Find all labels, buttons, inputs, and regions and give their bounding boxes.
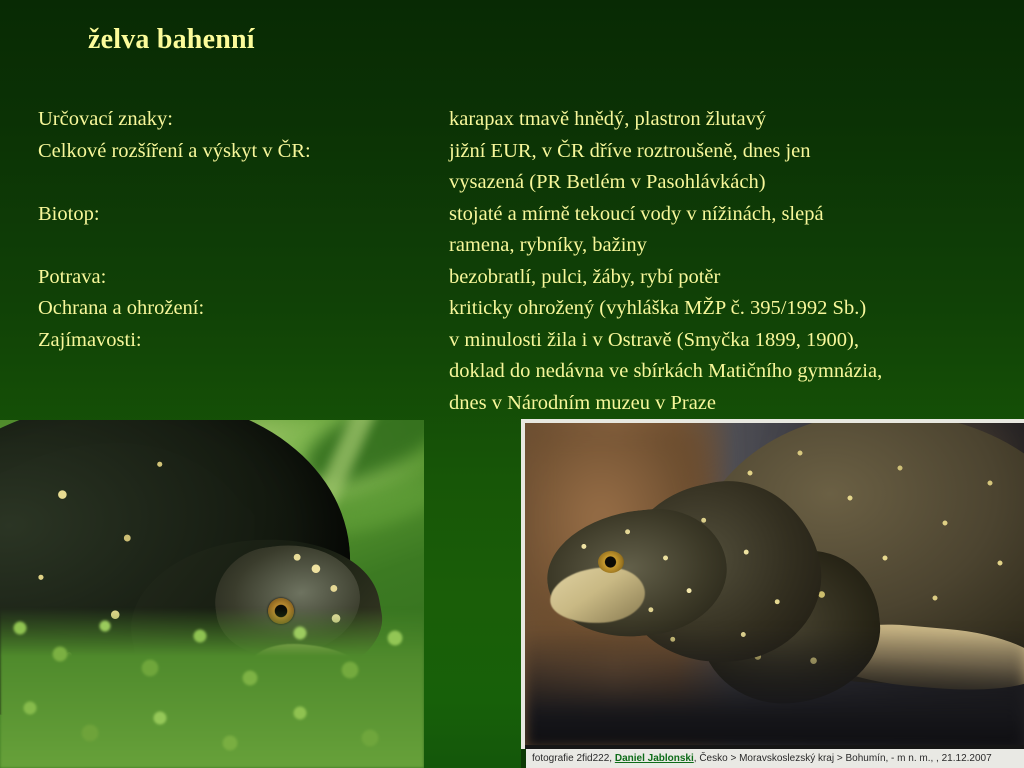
- info-label: Určovací znaky:: [38, 104, 438, 136]
- duckweed-mat: [0, 608, 424, 768]
- photo-credit-bar: fotografie 2fid222, Daniel Jablonski , Č…: [521, 749, 1024, 768]
- info-label: Ochrana a ohrožení:: [38, 293, 438, 325]
- credit-author-link[interactable]: Daniel Jablonski: [615, 753, 694, 764]
- info-value: v minulosti žila i v Ostravě (Smyčka 189…: [449, 325, 1019, 357]
- turtle-eye: [598, 551, 624, 573]
- photo-right-frame: [525, 423, 1024, 749]
- info-value: kriticky ohrožený (vyhláška MŽP č. 395/1…: [449, 293, 1019, 325]
- info-label: Potrava:: [38, 262, 438, 294]
- info-label: [38, 167, 438, 199]
- page-title: želva bahenní: [88, 24, 255, 56]
- info-value: doklad do nedávna ve sbírkách Matičního …: [449, 356, 1019, 388]
- credit-suffix: , Česko > Moravskoslezský kraj > Bohumín…: [694, 753, 992, 764]
- turtle-photo-right: [521, 419, 1024, 749]
- credit-prefix: fotografie 2fid222,: [532, 753, 615, 764]
- info-value: ramena, rybníky, bažiny: [449, 230, 1019, 262]
- info-label: [38, 356, 438, 388]
- turtle-photo-left: [0, 420, 424, 768]
- photo-right-shadow: [525, 629, 1024, 749]
- info-value: jižní EUR, v ČR dříve roztroušeně, dnes …: [449, 136, 1019, 168]
- info-value: karapax tmavě hnědý, plastron žlutavý: [449, 104, 1019, 136]
- info-label: [38, 230, 438, 262]
- info-label: Zajímavosti:: [38, 325, 438, 357]
- info-value: bezobratlí, pulci, žáby, rybí potěr: [449, 262, 1019, 294]
- info-value: dnes v Národním muzeu v Praze: [449, 388, 1019, 420]
- info-value: stojaté a mírně tekoucí vody v nížinách,…: [449, 199, 1019, 231]
- info-table: Určovací znaky: Celkové rozšíření a výsk…: [0, 104, 1024, 414]
- info-values-column: karapax tmavě hnědý, plastron žlutavý ji…: [449, 104, 1019, 419]
- info-label: Celkové rozšíření a výskyt v ČR:: [38, 136, 438, 168]
- info-label: Biotop:: [38, 199, 438, 231]
- info-value: vysazená (PR Betlém v Pasohlávkách): [449, 167, 1019, 199]
- slide-root: želva bahenní Určovací znaky: Celkové ro…: [0, 0, 1024, 768]
- info-labels-column: Určovací znaky: Celkové rozšíření a výsk…: [38, 104, 438, 419]
- info-label: [38, 388, 438, 420]
